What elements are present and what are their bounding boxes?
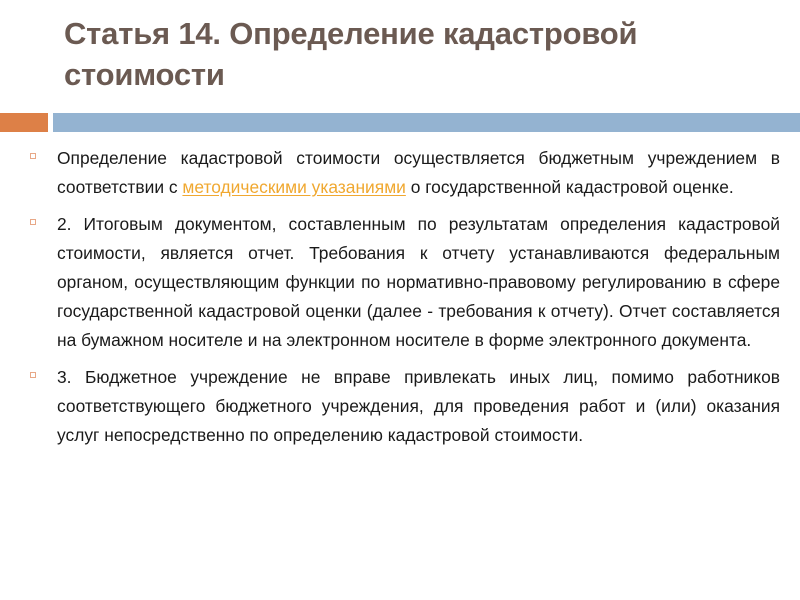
- list-item: 2. Итоговым документом, составленным по …: [0, 210, 800, 355]
- divider-accent-block: [0, 113, 48, 132]
- paragraph-1-text-after-link: о государственной кадастровой оценке.: [406, 177, 734, 197]
- methodological-guidelines-link[interactable]: методическими указаниями: [182, 177, 405, 197]
- title-block: Статья 14. Определение кадастровой стоим…: [64, 14, 764, 96]
- bullet-paragraph-3: 3. Бюджетное учреждение не вправе привле…: [57, 363, 780, 450]
- hollow-square-bullet-icon: [30, 219, 36, 225]
- page-title: Статья 14. Определение кадастровой стоим…: [64, 14, 764, 96]
- title-divider: [0, 113, 800, 132]
- body-content: Определение кадастровой стоимости осущес…: [0, 144, 800, 450]
- bullet-paragraph-2: 2. Итоговым документом, составленным по …: [57, 210, 780, 355]
- hollow-square-bullet-icon: [30, 372, 36, 378]
- list-item: 3. Бюджетное учреждение не вправе привле…: [0, 363, 800, 450]
- divider-bar: [53, 113, 800, 132]
- list-item: Определение кадастровой стоимости осущес…: [0, 144, 800, 202]
- slide-canvas: Статья 14. Определение кадастровой стоим…: [0, 0, 800, 600]
- bullet-paragraph-1: Определение кадастровой стоимости осущес…: [57, 144, 780, 202]
- hollow-square-bullet-icon: [30, 153, 36, 159]
